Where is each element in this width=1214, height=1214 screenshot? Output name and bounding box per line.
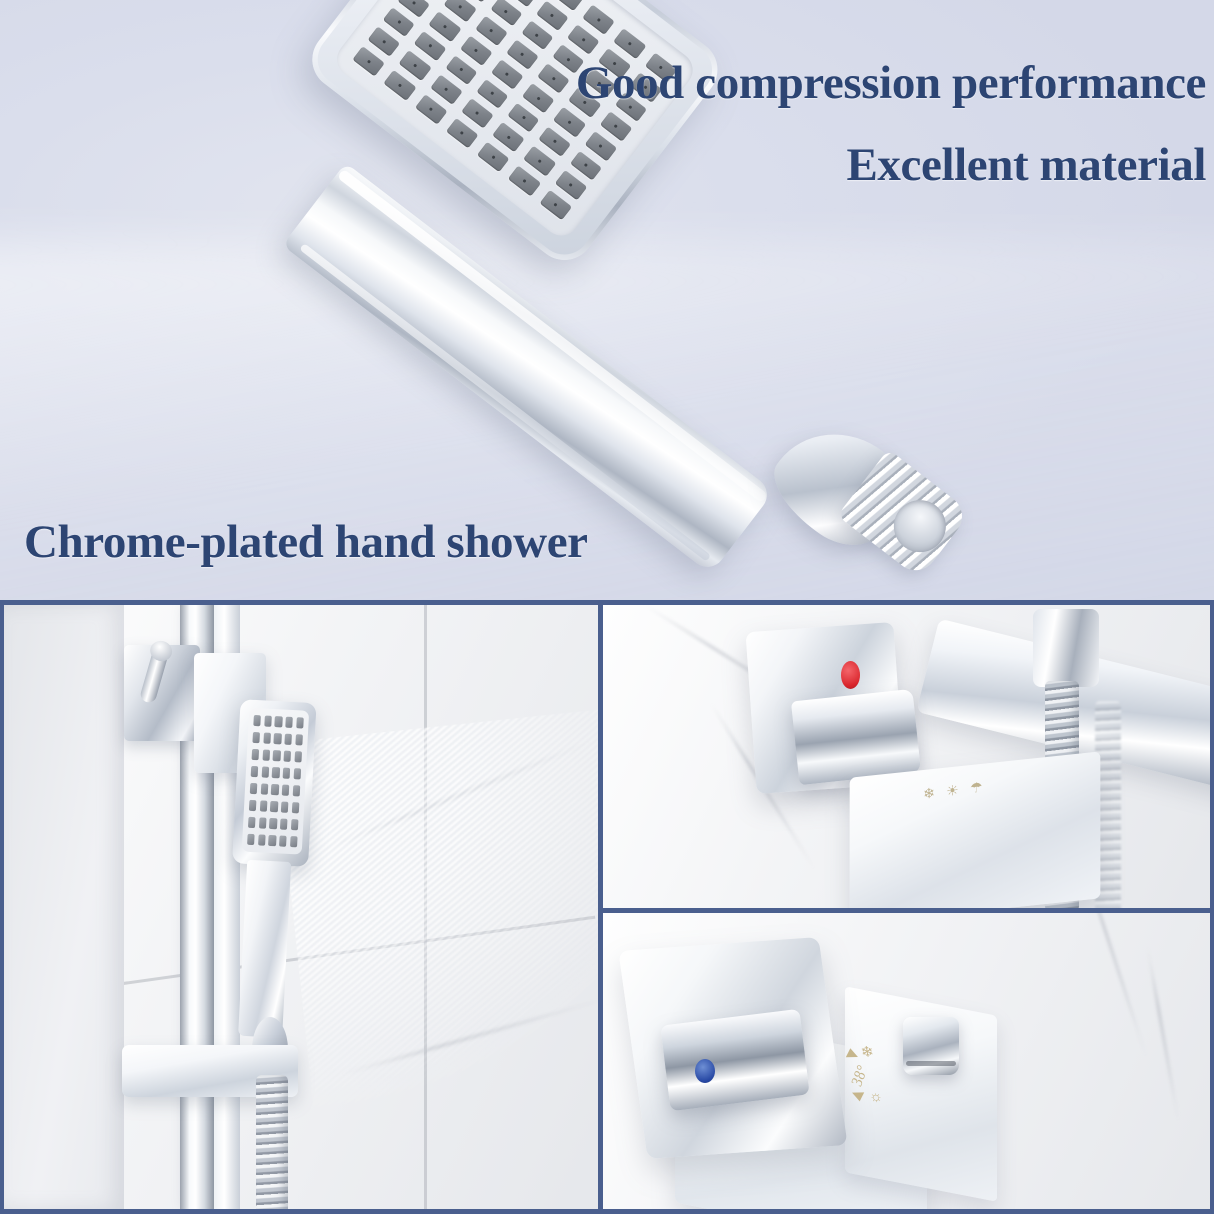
nozzle (384, 70, 417, 101)
nozzle (523, 146, 556, 177)
nozzle (260, 800, 268, 811)
nozzle (295, 751, 303, 762)
nozzle (275, 716, 283, 727)
nozzle (292, 802, 300, 813)
frame-right-edge (1210, 604, 1214, 1214)
nozzle (264, 716, 272, 727)
water-spray-jets (275, 709, 598, 1161)
nozzle (285, 734, 293, 745)
nozzle (491, 59, 524, 90)
nozzle (253, 715, 261, 726)
nozzle (294, 768, 302, 779)
nozzle (258, 834, 266, 845)
frame-bottom-edge (0, 1209, 1214, 1214)
nozzle (252, 732, 260, 743)
nozzle (280, 819, 288, 830)
hot-marking-row: ☼ (851, 1086, 924, 1109)
nozzle (263, 733, 271, 744)
nozzle (430, 74, 463, 105)
hand-shower-head (232, 699, 316, 867)
nozzle (259, 817, 267, 828)
nozzle (460, 35, 493, 66)
headline-compression: Good compression performance (576, 56, 1206, 110)
nozzle (522, 83, 555, 114)
panel-mixer-valve-closeup: ❄ ☀ ☂ (603, 605, 1210, 908)
nozzle (251, 766, 259, 777)
flow-control-knob[interactable] (660, 1009, 809, 1111)
nozzle (279, 836, 287, 847)
nozzle (536, 0, 569, 31)
nozzle (446, 118, 479, 149)
snowflake-icon: ❄ (860, 1045, 876, 1061)
side-wall (4, 605, 124, 1209)
nozzle (537, 63, 570, 94)
hot-water-indicator-icon (841, 661, 860, 689)
nozzle (415, 94, 448, 125)
nozzle (508, 165, 541, 196)
nozzle (251, 749, 259, 760)
nozzle (353, 46, 386, 77)
nozzle (281, 802, 289, 813)
nozzle (271, 784, 279, 795)
nozzle (269, 835, 277, 846)
nozzle (249, 800, 257, 811)
nozzle (290, 836, 298, 847)
nozzle (429, 11, 462, 42)
divider-right-split (598, 908, 1214, 913)
valve-body (850, 751, 1101, 908)
nozzle (283, 768, 291, 779)
braided-hose (256, 1075, 288, 1209)
headline-chrome-plated: Chrome-plated hand shower (24, 515, 588, 569)
panel-thermostatic-control-closeup: ❄ 38° ☼ (603, 913, 1210, 1209)
nozzle (368, 26, 401, 57)
nozzle (506, 40, 539, 71)
nozzle (282, 785, 290, 796)
nozzle (461, 98, 494, 129)
hand-shower-grip (238, 860, 291, 1038)
nozzle (296, 717, 304, 728)
nozzle (284, 751, 292, 762)
nozzle (273, 750, 281, 761)
product-feature-poster: Good compression performance Excellent m… (0, 0, 1214, 1214)
nozzle (555, 170, 588, 201)
nozzle (477, 142, 510, 173)
panel-hand-shower-in-use (4, 605, 598, 1209)
nozzle (248, 817, 256, 828)
nozzle (262, 750, 270, 761)
decrease-triangle-icon (852, 1092, 866, 1101)
nozzle (274, 733, 282, 744)
hero-banner: Good compression performance Excellent m… (0, 0, 1214, 604)
nozzle (475, 16, 508, 47)
nozzle (600, 111, 633, 142)
increase-triangle-icon (844, 1048, 858, 1057)
frame-left-edge (0, 604, 4, 1214)
nozzle (260, 784, 268, 795)
nozzle (293, 785, 301, 796)
nozzle (270, 801, 278, 812)
nozzle (399, 50, 432, 81)
nozzle (250, 783, 258, 794)
nozzle (247, 834, 255, 845)
nozzle (272, 767, 280, 778)
nozzle (492, 122, 525, 153)
headline-material: Excellent material (846, 138, 1206, 192)
nozzle (553, 107, 586, 138)
nozzle (567, 24, 600, 55)
sun-icon: ☼ (867, 1089, 884, 1105)
temperature-marking-row: 38° (847, 1063, 920, 1086)
nozzle (585, 131, 618, 162)
valve-handle[interactable] (791, 689, 921, 785)
nozzle (269, 818, 277, 829)
nozzle (261, 767, 269, 778)
hose-connector-nut (1033, 609, 1099, 687)
nozzle (295, 734, 303, 745)
hand-shower-nozzle-face (242, 708, 309, 855)
divider-hero-bottom (0, 600, 1214, 605)
nozzle (286, 717, 294, 728)
cold-water-indicator-icon (695, 1059, 715, 1083)
nozzle (540, 189, 573, 220)
nozzle (291, 819, 299, 830)
